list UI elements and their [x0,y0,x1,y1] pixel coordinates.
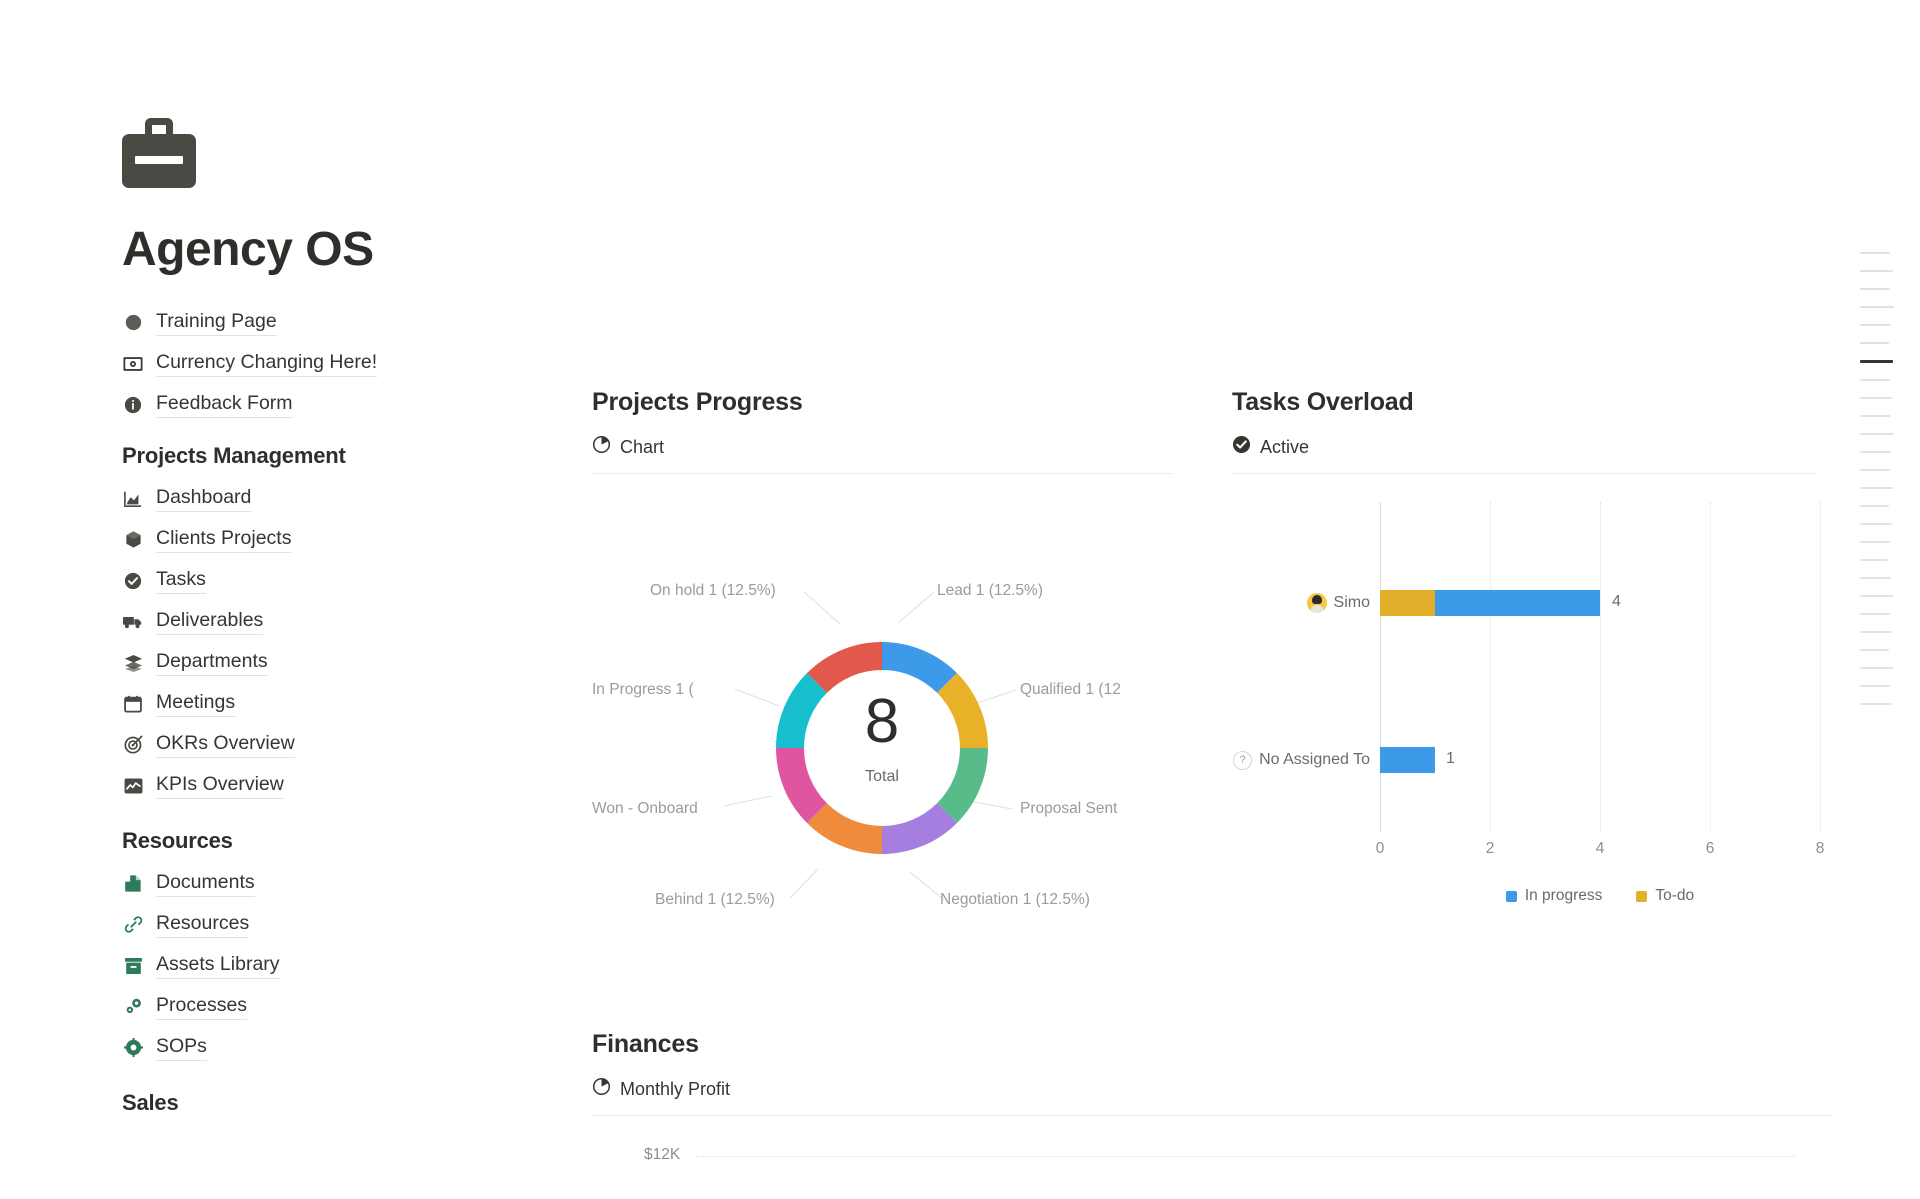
gears-icon [122,996,144,1018]
sidebar-section-heading: Resources [122,828,562,854]
sidebar-item-label: Clients Projects [156,526,291,553]
question-mark-icon: ? [1233,751,1252,770]
sidebar-item-label: SOPs [156,1034,207,1061]
sidebar-item-label: Currency Changing Here! [156,350,377,377]
donut-label-proposal-sent: Proposal Sent [1020,800,1117,818]
bar-category-label: No Assigned To [1259,751,1370,769]
sidebar-item-processes[interactable]: Processes [122,991,562,1023]
briefcase-slot [135,156,183,164]
target-icon [122,734,144,756]
bar-value-no-assigned-to: 1 [1446,750,1455,768]
check-circle-icon [122,570,144,592]
gridline [1710,502,1711,832]
divider [592,1115,1832,1116]
minimap-tick[interactable] [1860,469,1890,471]
x-axis-tick: 6 [1706,840,1715,858]
tasks-overload-view-label: Active [1260,437,1309,458]
donut-center-label: Total [592,768,1172,786]
minimap-tick[interactable] [1860,324,1891,326]
sidebar-section-heading: Projects Management [122,443,562,469]
legend-label: In progress [1525,887,1603,905]
donut-center-value: 8 [592,691,1172,753]
legend-swatch [1506,891,1517,902]
sidebar-item-departments[interactable]: Departments [122,647,562,679]
x-axis-tick: 2 [1486,840,1495,858]
minimap-tick[interactable] [1860,252,1890,254]
minimap-tick[interactable] [1860,703,1891,705]
sidebar-item-label: Documents [156,870,255,897]
donut-label-negotiation: Negotiation 1 (12.5%) [940,891,1090,909]
projects-progress-view-label: Chart [620,437,664,458]
sidebar-item-label: Tasks [156,567,206,594]
bar-value-simo: 4 [1612,593,1621,611]
bar-category-no-assigned-to: ? No Assigned To [1232,751,1380,770]
bar-category-simo: Simo [1232,593,1380,613]
sidebar-item-feedback-form[interactable]: Feedback Form [122,389,562,421]
outline-minimap[interactable] [1860,252,1904,721]
bar-chart-icon [122,488,144,510]
minimap-tick[interactable] [1860,613,1890,615]
donut-label-lead: Lead 1 (12.5%) [937,582,1043,600]
box-icon [122,529,144,551]
money-icon [122,353,144,375]
archive-icon [122,955,144,977]
donut-label-in-progress: In Progress 1 ( [592,681,694,699]
minimap-tick[interactable] [1860,270,1893,272]
minimap-tick[interactable] [1860,288,1890,290]
sidebar-item-label: OKRs Overview [156,731,295,758]
sidebar-item-label: Resources [156,911,249,938]
x-axis-tick: 8 [1816,840,1825,858]
pie-chart-icon [592,1077,611,1101]
legend-label: To-do [1655,887,1694,905]
bar-category-label: Simo [1334,594,1370,612]
minimap-tick[interactable] [1860,541,1890,543]
avatar [1307,593,1327,613]
sidebar-item-training-page[interactable]: Training Page [122,307,562,339]
sidebar-item-documents[interactable]: Documents [122,868,562,900]
gridline [696,1156,1796,1157]
finances-view-selector[interactable]: Monthly Profit [592,1077,1832,1101]
circle-icon [122,312,144,334]
y-axis-tick: $12K [644,1146,680,1164]
sidebar: Agency OS Training Page Currency C [122,118,562,1130]
page-title: Agency OS [122,224,562,277]
sidebar-item-label: Processes [156,993,247,1020]
minimap-tick[interactable] [1860,433,1894,435]
sidebar-item-label: Training Page [156,309,277,336]
minimap-tick[interactable] [1860,342,1889,344]
finances-view-label: Monthly Profit [620,1079,730,1100]
donut-label-on-hold: On hold 1 (12.5%) [650,582,776,600]
calendar-icon [122,693,144,715]
donut-label-qualified: Qualified 1 (12 [1020,681,1121,699]
projects-progress-card: Projects Progress Chart [592,388,1172,926]
sidebar-item-label: Feedback Form [156,391,293,418]
legend-item-to-do[interactable]: To-do [1636,887,1694,905]
minimap-tick[interactable] [1860,487,1893,489]
divider [592,473,1172,474]
sidebar-item-label: Meetings [156,690,235,717]
finances-card: Finances Monthly Profit $12K [592,1030,1832,1199]
sidebar-section-projects-management: Dashboard Clients Projects [122,483,562,802]
sidebar-item-label: Deliverables [156,608,263,635]
minimap-tick[interactable] [1860,577,1891,579]
link-icon [122,914,144,936]
info-icon [122,394,144,416]
sidebar-section-resources: Documents Resources [122,868,562,1064]
bar-segment-in-progress [1435,590,1600,616]
sidebar-item-currency-changing-here[interactable]: Currency Changing Here! [122,348,562,380]
bar-segment-in-progress [1380,747,1435,773]
documents-icon [122,873,144,895]
minimap-tick[interactable] [1860,451,1891,453]
minimap-tick[interactable] [1860,505,1889,507]
minimap-tick[interactable] [1860,685,1890,687]
minimap-tick[interactable] [1860,595,1893,597]
projects-progress-donut-chart: 8 Total Lead 1 (12.5%) Qualified 1 (12 P… [592,506,1172,926]
minimap-tick[interactable] [1860,415,1890,417]
bar-track: 1 [1380,747,1817,773]
sidebar-item-label: Assets Library [156,952,280,979]
y-axis-line [1380,502,1381,832]
projects-progress-title: Projects Progress [592,388,1172,417]
minimap-tick[interactable] [1860,306,1894,308]
gear-icon [122,1037,144,1059]
sidebar-item-label: Departments [156,649,268,676]
pie-chart-icon [592,435,611,459]
sidebar-section-heading: Sales [122,1090,562,1116]
bar-chart-legend: In progress To-do [1380,887,1820,905]
projects-progress-view-selector[interactable]: Chart [592,435,1172,459]
gridline [1600,502,1601,832]
line-chart-icon [122,775,144,797]
bar-row-no-assigned-to[interactable]: ? No Assigned To 1 [1232,747,1817,773]
sidebar-item-sops[interactable]: SOPs [122,1032,562,1064]
sidebar-item-dashboard[interactable]: Dashboard [122,483,562,515]
tasks-overload-card: Tasks Overload Active [1232,388,1817,922]
tasks-overload-title: Tasks Overload [1232,388,1817,417]
minimap-tick[interactable] [1860,397,1892,399]
minimap-tick[interactable] [1860,559,1888,561]
minimap-tick[interactable] [1860,523,1892,525]
sidebar-item-resources[interactable]: Resources [122,909,562,941]
truck-icon [122,611,144,633]
gridline [1820,502,1821,832]
bar-row-simo[interactable]: Simo 4 [1232,590,1817,616]
main-content: Projects Progress Chart [592,0,1832,1199]
sidebar-item-deliverables[interactable]: Deliverables [122,606,562,638]
sidebar-item-okrs-overview[interactable]: OKRs Overview [122,729,562,761]
minimap-tick-active[interactable] [1860,360,1893,363]
x-axis-tick: 0 [1376,840,1385,858]
sidebar-item-clients-projects[interactable]: Clients Projects [122,524,562,556]
bar-segment-todo [1380,590,1435,616]
sidebar-item-assets-library[interactable]: Assets Library [122,950,562,982]
minimap-tick[interactable] [1860,667,1893,669]
tasks-overload-bar-chart: Simo 4 ? No Assigned To [1232,502,1817,922]
sidebar-item-label: KPIs Overview [156,772,284,799]
x-axis-tick: 4 [1596,840,1605,858]
gridline [1490,502,1491,832]
tasks-overload-view-selector[interactable]: Active [1232,435,1817,459]
sidebar-item-tasks[interactable]: Tasks [122,565,562,597]
briefcase-icon [122,118,196,188]
layers-icon [122,652,144,674]
sidebar-item-kpis-overview[interactable]: KPIs Overview [122,770,562,802]
bar-track: 4 [1380,590,1817,616]
donut-label-behind: Behind 1 (12.5%) [655,891,775,909]
finances-title: Finances [592,1030,1832,1059]
minimap-tick[interactable] [1860,649,1889,651]
sidebar-item-label: Dashboard [156,485,251,512]
legend-swatch [1636,891,1647,902]
donut-label-won-onboarding: Won - Onboard [592,800,698,818]
legend-item-in-progress[interactable]: In progress [1506,887,1603,905]
sidebar-item-meetings[interactable]: Meetings [122,688,562,720]
sidebar-top-links: Training Page Currency Changing Here! [122,307,562,421]
minimap-tick[interactable] [1860,631,1892,633]
check-circle-icon [1232,435,1251,459]
divider [1232,473,1817,474]
page-root: Agency OS Training Page Currency C [0,0,1920,1199]
minimap-tick[interactable] [1860,379,1890,381]
monthly-profit-chart: $12K [592,1146,1832,1199]
